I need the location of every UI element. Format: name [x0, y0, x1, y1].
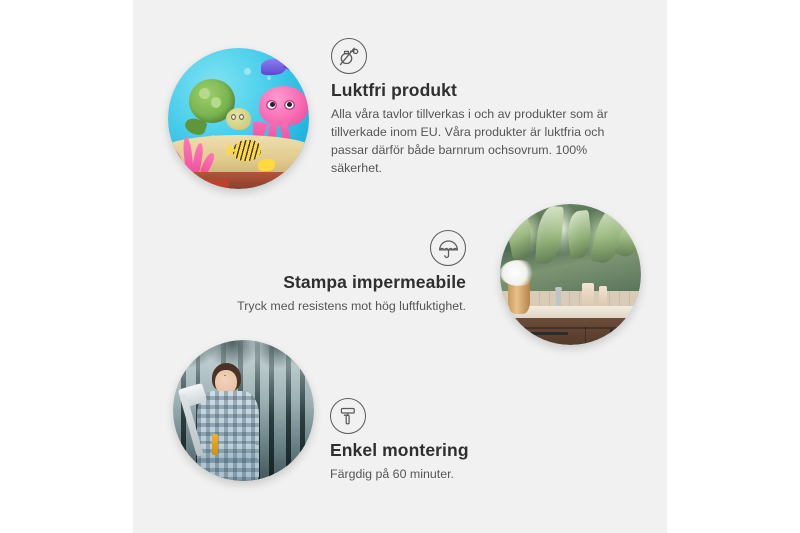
octopus-eye-left	[266, 100, 277, 110]
feature-odour-icon-wrap	[331, 38, 631, 74]
photo-ocean-kids-mural	[168, 48, 309, 189]
wooden-vanity-cabinet	[506, 318, 641, 345]
feature-banner: Luktfri produkt Alla våra tavlor tillver…	[0, 0, 800, 533]
feature-mount-icon-wrap	[330, 398, 600, 434]
octopus-eye-right	[284, 100, 295, 110]
feature-waterproof-print: Stampa impermeabile Tryck med resistens …	[212, 230, 466, 315]
feature-odour-free: Luktfri produkt Alla våra tavlor tillver…	[331, 38, 631, 177]
person-folded-arms	[197, 443, 260, 462]
paint-roller-icon	[330, 398, 366, 434]
photo-bathroom-botanical-wallpaper	[500, 204, 641, 345]
door-handle	[610, 329, 613, 340]
feature-odour-description: Alla våra tavlor tillverkas i och av pro…	[331, 105, 631, 177]
photo-bathroom-inner	[500, 204, 641, 345]
photo-ocean-inner	[168, 48, 309, 189]
ocean-floor-foreground	[168, 172, 309, 189]
feature-water-icon-wrap	[212, 230, 466, 266]
blue-fish-icon	[261, 59, 286, 75]
feature-water-description: Tryck med resistens mot hög luftfuktighe…	[212, 297, 466, 315]
white-flowers	[500, 260, 537, 285]
feature-odour-title: Luktfri produkt	[331, 80, 631, 101]
cabinet-seam	[585, 327, 587, 345]
cabinet-seam	[506, 327, 641, 329]
coral-illustration	[172, 131, 220, 173]
photo-forest-inner	[173, 340, 314, 481]
decorator-person	[190, 363, 275, 481]
no-smell-perfume-bottle-icon	[331, 38, 367, 74]
octopus-head	[259, 86, 309, 126]
photo-decorator-in-forest	[173, 340, 314, 481]
small-yellow-fish-icon	[258, 159, 275, 170]
person-plaid-shirt	[197, 391, 260, 481]
bubble-icon	[244, 68, 251, 75]
turtle-head	[226, 108, 251, 130]
feature-water-title: Stampa impermeabile	[212, 272, 466, 293]
leaf-shape	[535, 205, 564, 264]
soap-bottle	[599, 286, 607, 309]
drawer-handle	[531, 332, 568, 335]
sea-turtle-illustration	[185, 79, 247, 131]
hand-tool	[212, 434, 218, 455]
umbrella-icon	[430, 230, 466, 266]
feature-mount-description: Färgdig på 60 minuter.	[330, 465, 600, 483]
soap-bottle	[582, 283, 595, 308]
yellow-striped-fish-icon	[233, 140, 261, 161]
leaf-shape	[504, 208, 536, 260]
person-smile	[224, 375, 226, 376]
leaf-shape	[565, 210, 592, 259]
feature-easy-mounting: Enkel montering Färgdig på 60 minuter.	[330, 398, 600, 483]
feature-mount-title: Enkel montering	[330, 440, 600, 461]
